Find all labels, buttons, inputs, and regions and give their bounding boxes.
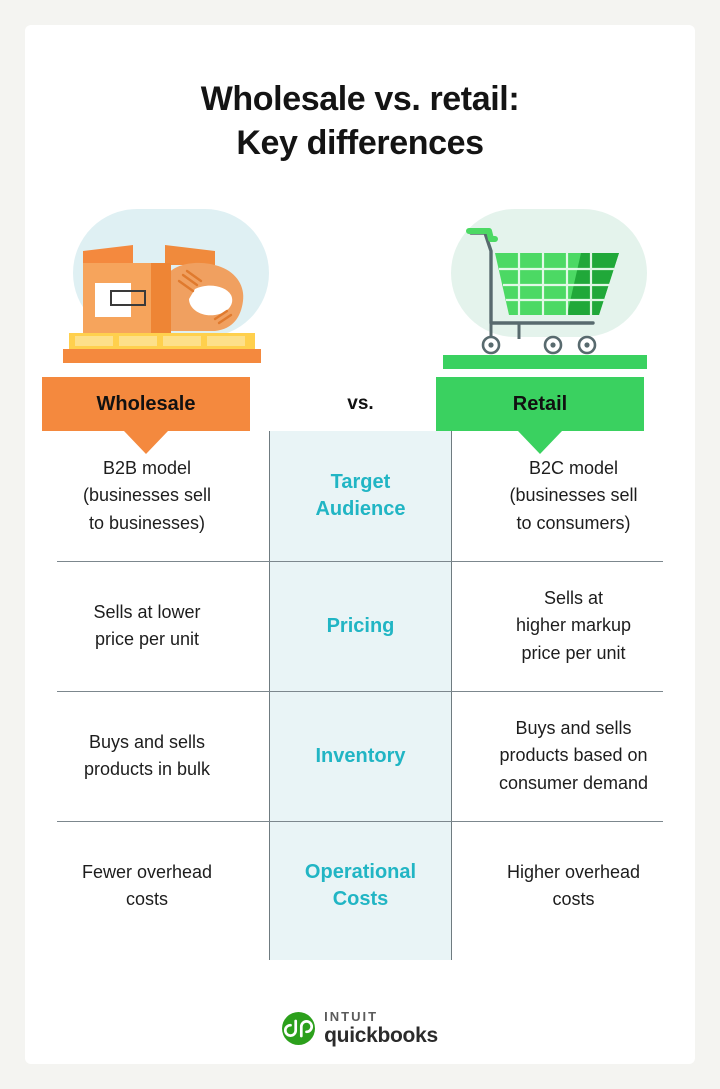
- retail-cell: Sells athigher markupprice per unit: [452, 561, 695, 691]
- criterion-cell: Inventory: [269, 691, 452, 821]
- table-row: Sells at lowerprice per unit Pricing Sel…: [25, 561, 695, 691]
- intuit-wordmark: INTUIT: [324, 1010, 438, 1023]
- page-title: Wholesale vs. retail: Key differences: [25, 77, 695, 165]
- criterion-cell: Target Audience: [269, 431, 452, 561]
- title-line-2: Key differences: [25, 121, 695, 165]
- criterion-line-2: Costs: [333, 888, 389, 910]
- brand-wordmark: INTUIT quickbooks: [324, 1010, 438, 1046]
- comparison-table: B2B model(businesses sellto businesses) …: [25, 431, 695, 951]
- retail-cell: B2C model(businesses sellto consumers): [452, 431, 695, 561]
- retail-header-banner: Retail: [436, 377, 644, 431]
- wholesale-cell: Buys and sellsproducts in bulk: [25, 691, 269, 821]
- quickbooks-logo-icon: [282, 1012, 315, 1045]
- wholesale-illustration: [55, 205, 287, 373]
- wholesale-cell: B2B model(businesses sellto businesses): [25, 431, 269, 561]
- criterion-cell: Pricing: [269, 561, 452, 691]
- quickbooks-wordmark: quickbooks: [324, 1025, 438, 1046]
- retail-cell: Buys and sellsproducts based onconsumer …: [452, 691, 695, 821]
- wholesale-header-label: Wholesale: [97, 393, 196, 416]
- boxes-on-pallet-icon: [55, 205, 287, 373]
- title-line-1: Wholesale vs. retail:: [25, 77, 695, 121]
- criterion-line-1: Target: [331, 471, 391, 493]
- criterion-line-1: Operational: [305, 861, 416, 883]
- wholesale-cell: Sells at lowerprice per unit: [25, 561, 269, 691]
- brand-footer: INTUIT quickbooks: [25, 1010, 695, 1046]
- retail-header-label: Retail: [513, 393, 567, 416]
- criterion-cell: Operational Costs: [269, 821, 452, 951]
- retail-cell: Higher overheadcosts: [452, 821, 695, 951]
- table-row: Fewer overheadcosts Operational Costs Hi…: [25, 821, 695, 951]
- versus-label: vs.: [269, 377, 452, 431]
- table-row: B2B model(businesses sellto businesses) …: [25, 431, 695, 561]
- infographic-card: Wholesale vs. retail: Key differences: [25, 25, 695, 1064]
- criterion-line-2: Audience: [315, 498, 405, 520]
- table-row: Buys and sellsproducts in bulk Inventory…: [25, 691, 695, 821]
- qb-monogram: [282, 1012, 315, 1045]
- wholesale-header-banner: Wholesale: [42, 377, 250, 431]
- retail-illustration: [433, 205, 665, 373]
- wholesale-cell: Fewer overheadcosts: [25, 821, 269, 951]
- shopping-cart-icon: [433, 205, 665, 373]
